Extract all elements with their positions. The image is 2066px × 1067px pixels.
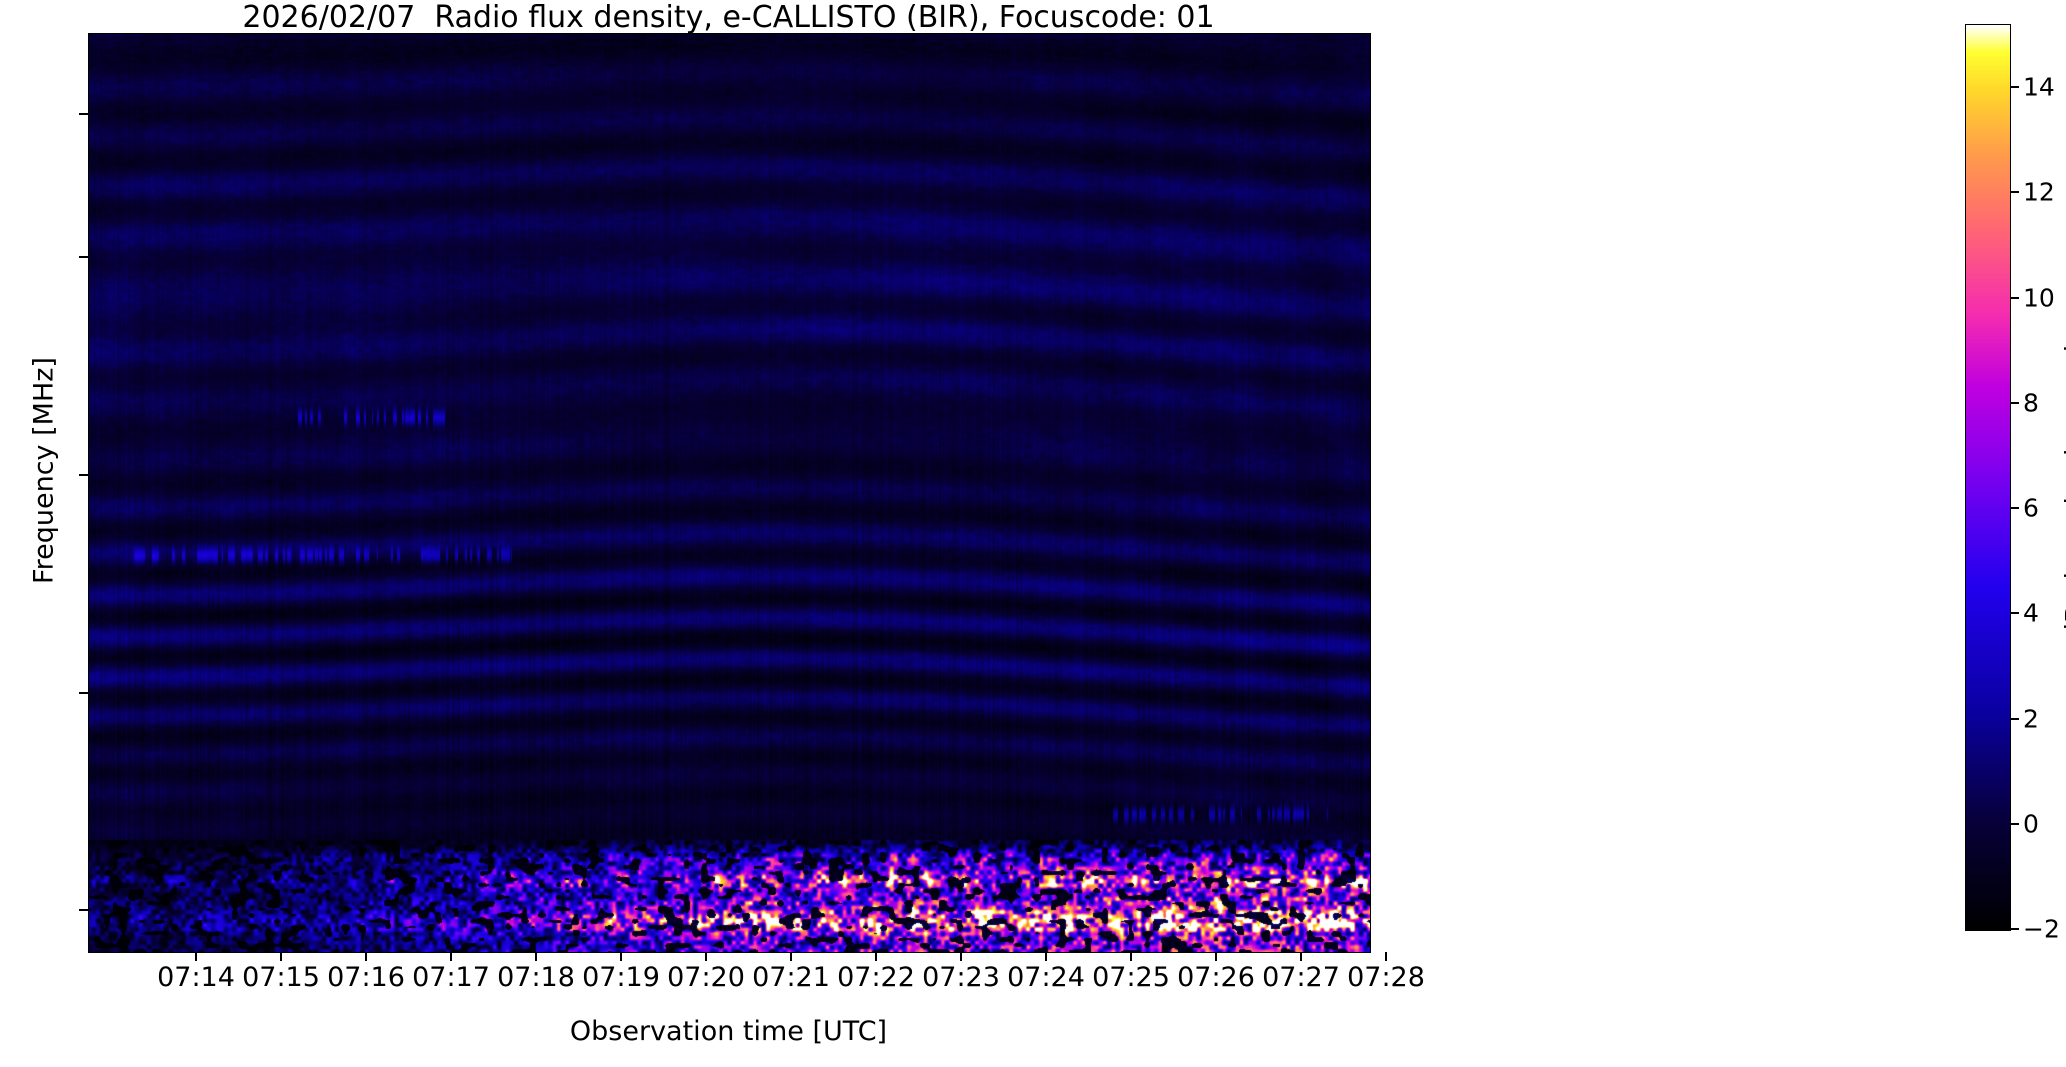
- colorbar-tick-label: 6: [2023, 494, 2039, 523]
- spectrogram-axes: [88, 33, 1371, 953]
- x-tick-label: 07:28: [1296, 962, 1476, 993]
- colorbar-tick-mark: [2010, 297, 2019, 299]
- y-tick-mark: [79, 113, 88, 115]
- colorbar-tick-label: 8: [2023, 388, 2039, 417]
- x-tick-mark: [705, 952, 707, 961]
- colorbar-tick-mark: [2010, 402, 2019, 404]
- y-tick-mark: [79, 474, 88, 476]
- spectrogram-image: [89, 34, 1370, 952]
- colorbar-tick-mark: [2010, 507, 2019, 509]
- colorbar-tick-mark: [2010, 612, 2019, 614]
- x-tick-mark: [620, 952, 622, 961]
- x-tick-mark: [960, 952, 962, 961]
- y-tick-mark: [79, 256, 88, 258]
- colorbar-tick-label: 4: [2023, 599, 2039, 628]
- x-tick-mark: [365, 952, 367, 961]
- x-tick-mark: [195, 952, 197, 961]
- colorbar-tick-mark: [2010, 86, 2019, 88]
- y-tick-mark: [79, 692, 88, 694]
- x-axis-label: Observation time [UTC]: [88, 1016, 1369, 1047]
- colorbar-gradient: [1966, 25, 2010, 930]
- spectrogram-figure: 2026/02/07 Radio flux density, e-CALLIST…: [0, 0, 2066, 1067]
- page-title: 2026/02/07 Radio flux density, e-CALLIST…: [88, 2, 1369, 34]
- x-tick-mark: [1215, 952, 1217, 961]
- x-tick-mark: [1130, 952, 1132, 961]
- y-tick-mark: [79, 909, 88, 911]
- x-tick-mark: [1045, 952, 1047, 961]
- colorbar-tick-label: −2: [2023, 915, 2060, 944]
- colorbar-tick-mark: [2010, 718, 2019, 720]
- x-tick-mark: [875, 952, 877, 961]
- colorbar-tick-label: 2: [2023, 704, 2039, 733]
- colorbar-tick-mark: [2010, 823, 2019, 825]
- colorbar-axis-label: dB above background: [2061, 173, 2066, 813]
- colorbar-tick-mark: [2010, 928, 2019, 930]
- colorbar-tick-mark: [2010, 191, 2019, 193]
- colorbar-tick-label: 0: [2023, 809, 2039, 838]
- x-tick-mark: [1385, 952, 1387, 961]
- x-tick-mark: [1300, 952, 1302, 961]
- x-tick-mark: [280, 952, 282, 961]
- x-tick-mark: [450, 952, 452, 961]
- x-tick-mark: [535, 952, 537, 961]
- colorbar-tick-label: 14: [2023, 73, 2055, 102]
- colorbar: [1965, 24, 2011, 931]
- x-tick-mark: [790, 952, 792, 961]
- colorbar-tick-label: 10: [2023, 283, 2055, 312]
- y-axis-label: Frequency [MHz]: [29, 151, 60, 791]
- colorbar-tick-label: 12: [2023, 178, 2055, 207]
